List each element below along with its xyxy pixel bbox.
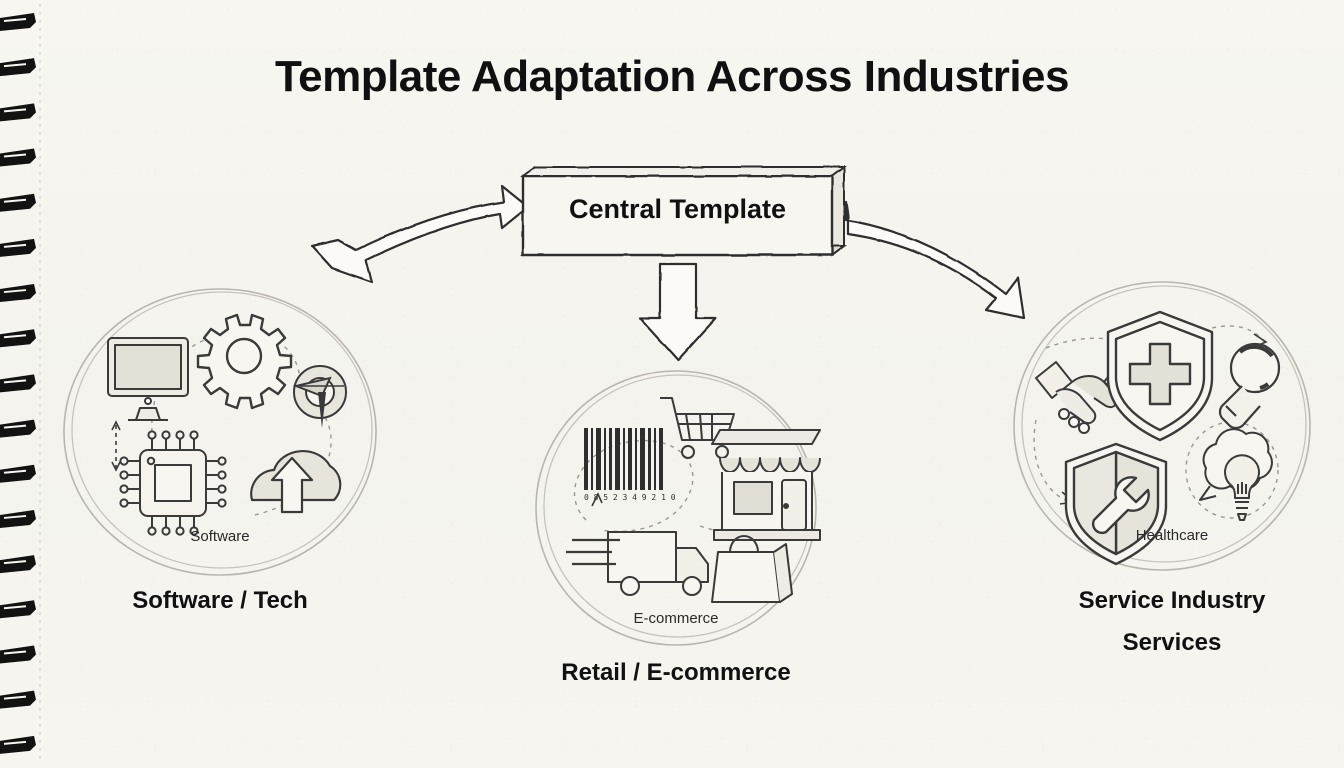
industry-circle-retail[interactable]: 0 8 5 2 3 4 9 2 1 0 [536,371,820,645]
central-template-label: Central Template [523,194,832,225]
shopping-cart-icon [660,398,734,458]
shopping-bag-icon [712,536,792,602]
medical-shield-icon [1108,312,1212,440]
industry-inner-label-retail: E-commerce [616,610,736,627]
industry-inner-label-software: Software [160,528,280,545]
monitor-icon [108,338,188,420]
target-dart-icon [294,366,346,428]
delivery-truck-icon [566,532,708,595]
page-title: Template Adaptation Across Industries [0,52,1344,102]
industry-inner-label-service: Healthcare [1112,527,1232,544]
double-arrow-icon [112,422,120,470]
industry-caption-software: Software / Tech [100,587,340,615]
industry-caption-service-line2: Services [1052,629,1292,657]
barcode-icon: 0 8 5 2 3 4 9 2 1 0 [584,428,676,502]
industry-caption-service-line1: Service Industry [1052,587,1292,615]
lightbulb-thought-icon [1200,429,1272,520]
cloud-upload-icon [251,451,340,512]
cpu-chip-icon [120,431,225,534]
svg-text:0 8 5 2 3 4 9 2 1 0: 0 8 5 2 3 4 9 2 1 0 [584,493,676,502]
gear-icon [198,315,291,408]
industry-caption-retail: Retail / E-commerce [556,659,796,687]
storefront-icon [712,430,820,540]
wrench-magnifier-icon [1220,344,1279,428]
